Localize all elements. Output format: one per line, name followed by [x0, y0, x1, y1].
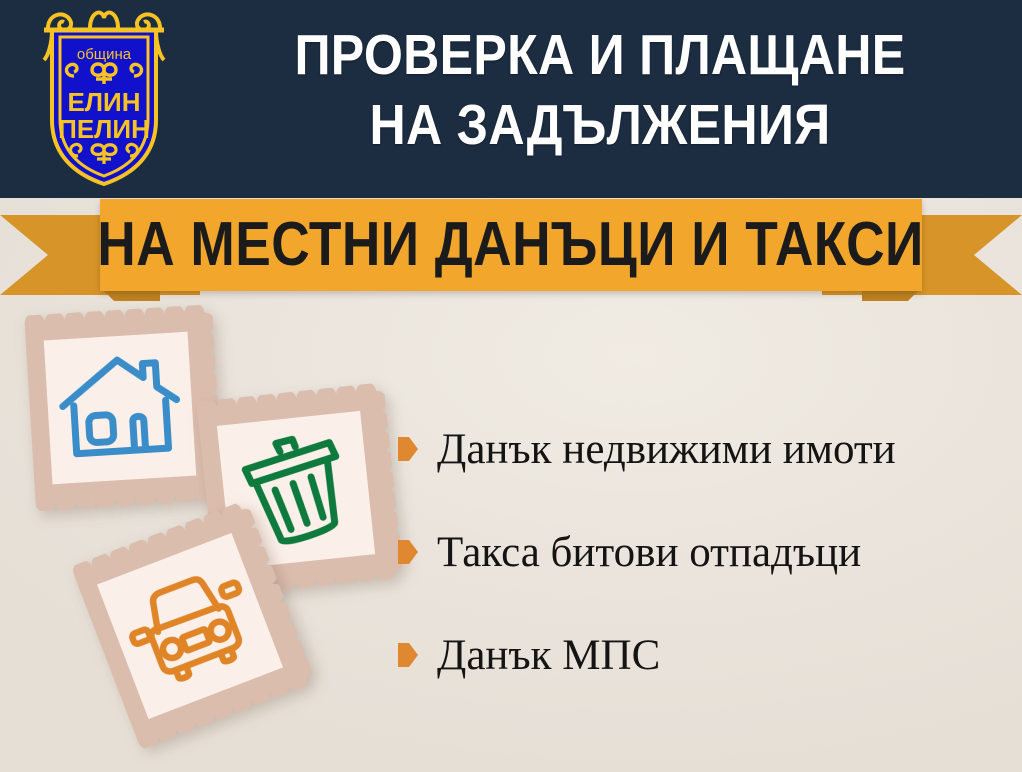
- list-item-label: Данък недвижими имоти: [437, 428, 896, 471]
- logo-text-obshtina: община: [77, 46, 132, 63]
- logo-text-pelin: ПЕЛИН: [58, 114, 150, 144]
- list-item[interactable]: Данък недвижими имоти: [398, 424, 1018, 474]
- logo-text-elin: ЕЛИН: [67, 87, 140, 117]
- arrow-bullet-icon: [398, 643, 418, 667]
- poster-root: община ЕЛИН ПЕЛИН: [0, 0, 1022, 772]
- list-item[interactable]: Такса битови отпадъци: [398, 527, 1018, 577]
- arrow-bullet-icon: [398, 540, 418, 564]
- page-title: ПРОВЕРКА И ПЛАЩАНЕ НА ЗАДЪЛЖЕНИЯ: [239, 20, 961, 160]
- arrow-bullet-icon: [398, 437, 418, 461]
- list-item-label: Такса битови отпадъци: [437, 531, 861, 574]
- list-item[interactable]: Данък МПС: [398, 630, 1018, 680]
- service-list: Данък недвижими имоти Такса битови отпад…: [398, 424, 1018, 680]
- stamp-paper: [44, 332, 197, 485]
- municipality-logo: община ЕЛИН ПЕЛИН: [30, 4, 178, 190]
- ribbon-band: НА МЕСТНИ ДАНЪЦИ И ТАКСИ: [100, 199, 922, 291]
- ribbon-label: НА МЕСТНИ ДАНЪЦИ И ТАКСИ: [98, 214, 925, 276]
- list-item-label: Данък МПС: [437, 634, 660, 677]
- stamp-card-group: [0, 300, 420, 772]
- ribbon-banner: НА МЕСТНИ ДАНЪЦИ И ТАКСИ: [0, 196, 1022, 314]
- header-banner: община ЕЛИН ПЕЛИН: [0, 0, 1022, 198]
